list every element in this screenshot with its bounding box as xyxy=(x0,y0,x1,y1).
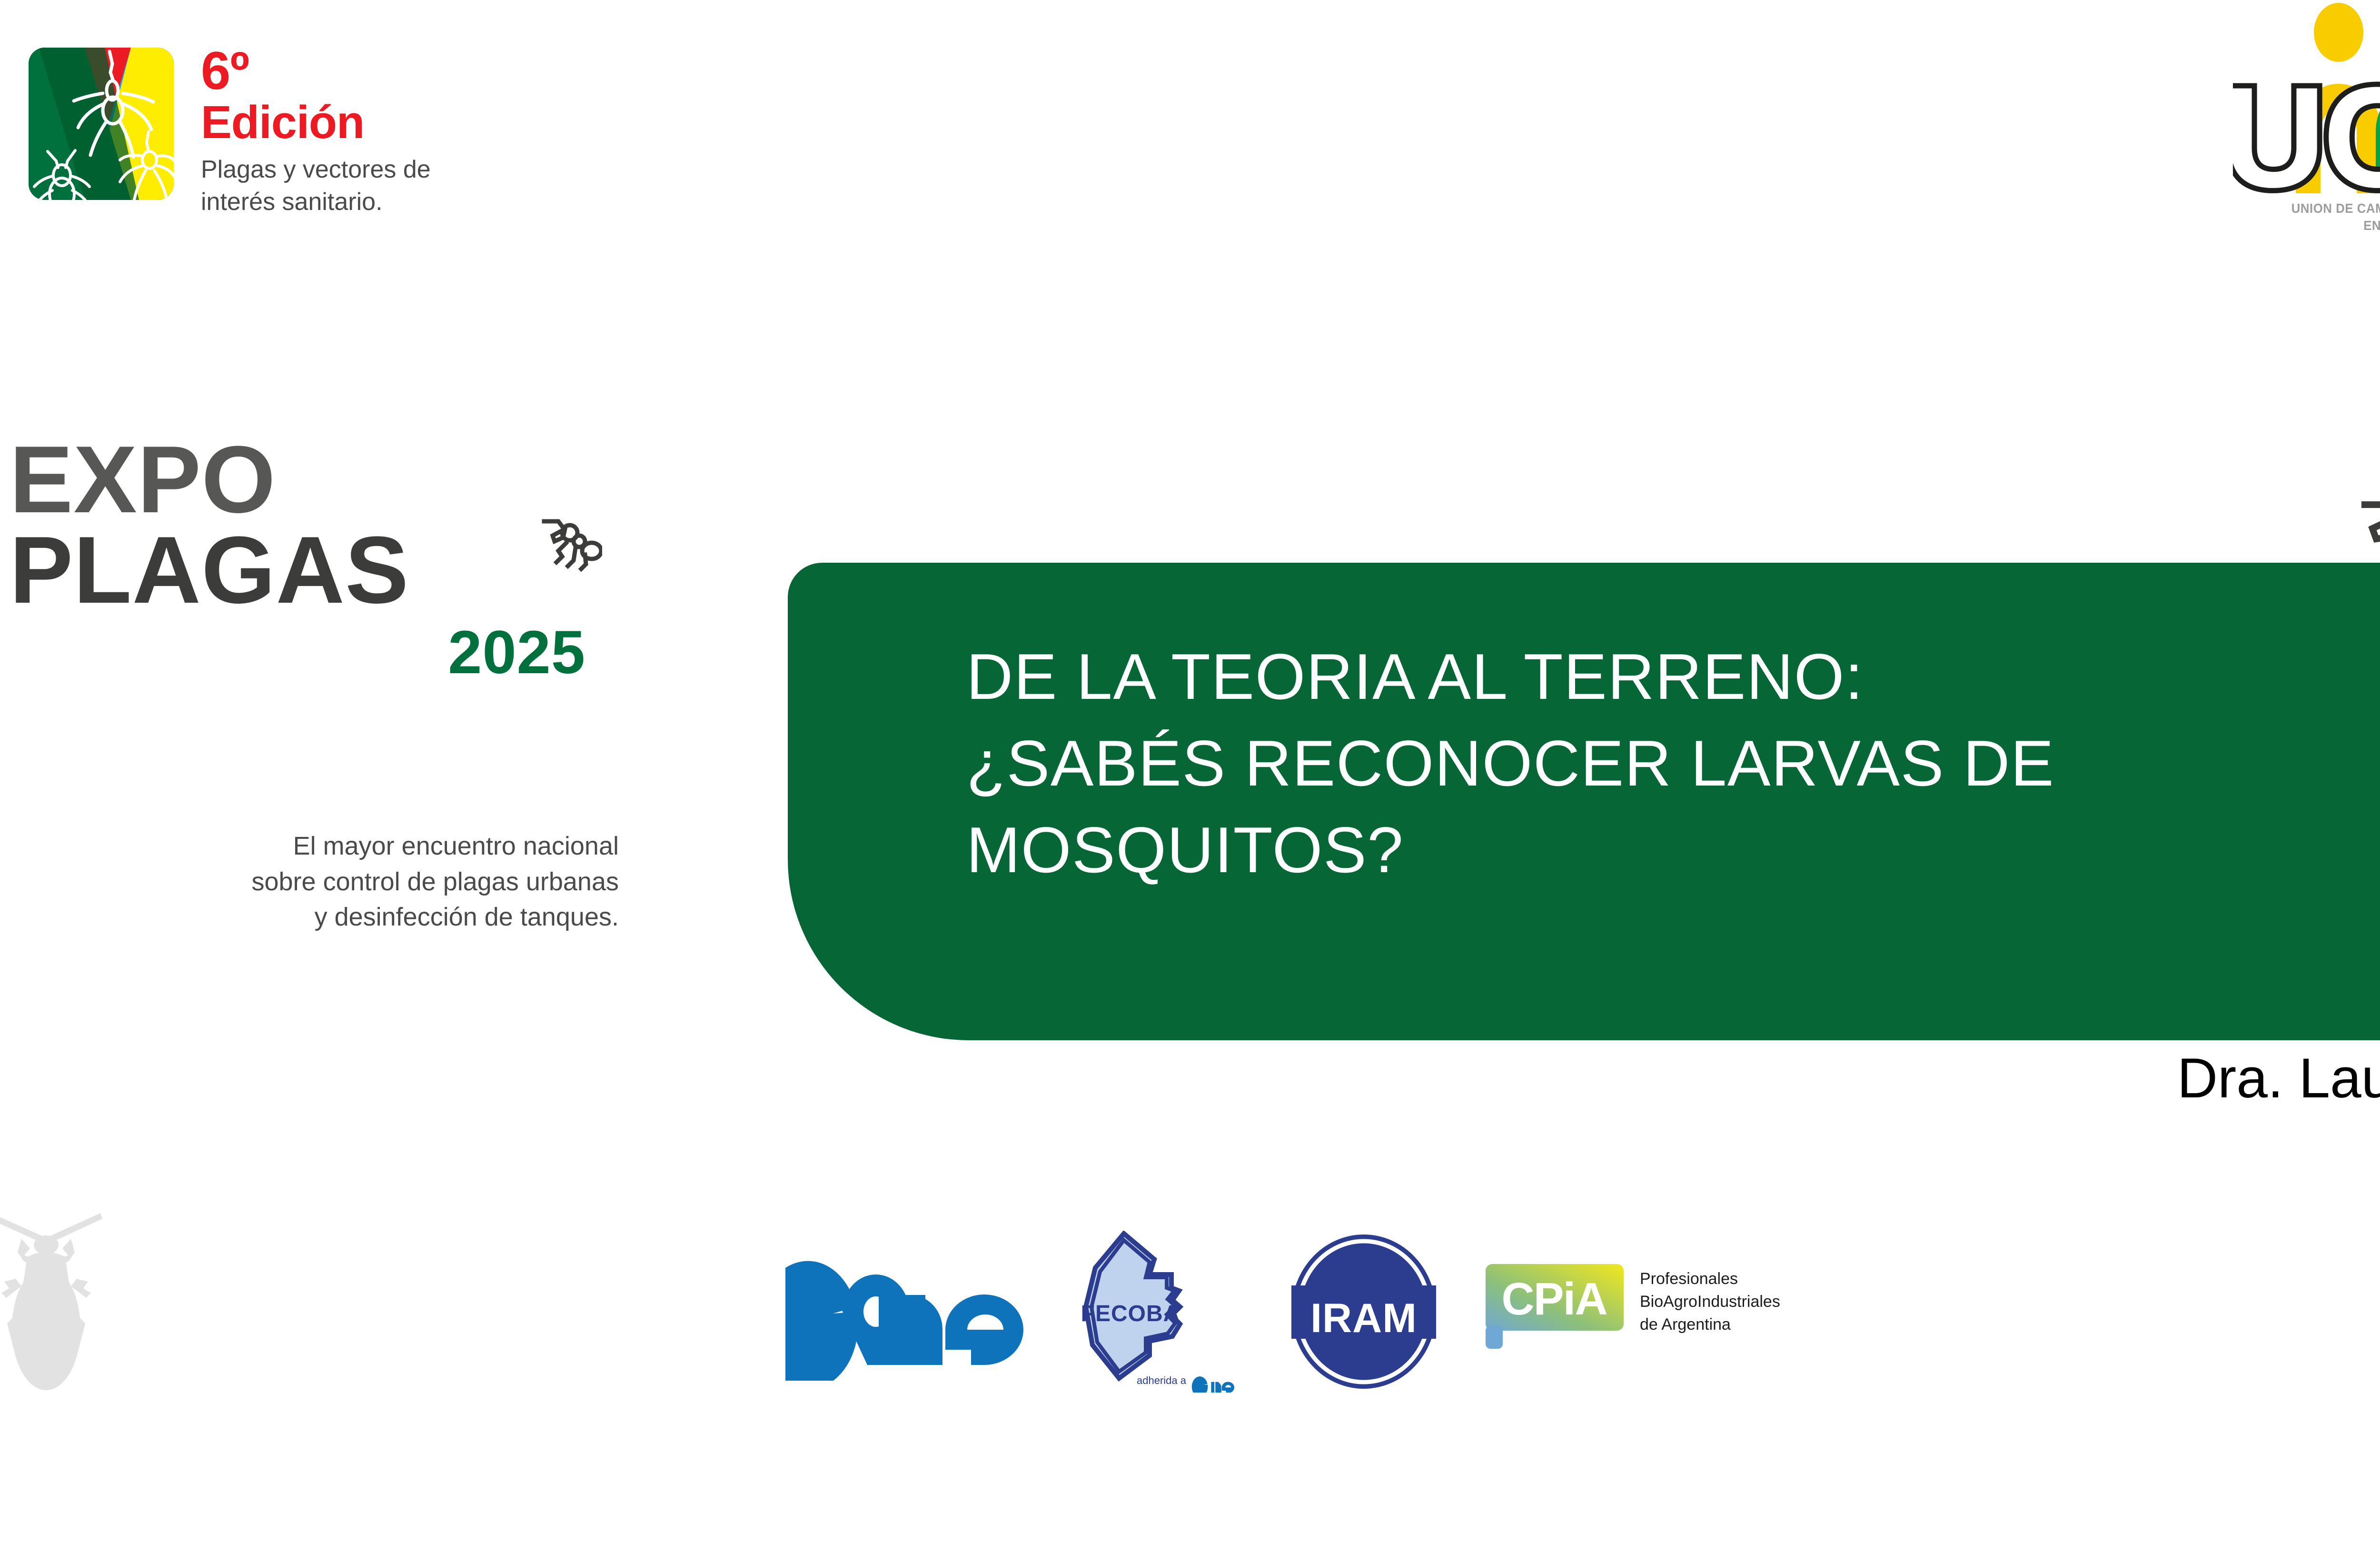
iram-logo-icon: IRAM xyxy=(1288,1233,1440,1390)
came-mini-icon xyxy=(1192,1376,1234,1393)
edition-subtitle: Plagas y vectores de interés sanitario. xyxy=(201,154,629,218)
tagline-line2: sobre control de plagas urbanas xyxy=(0,864,619,900)
sponsor-logo-cpia: CPiA Profesionales BioAgroIndustriales d… xyxy=(1483,1254,1811,1369)
cpia-desc-line3: de Argentina xyxy=(1640,1315,1731,1334)
edition-subtitle-line1: Plagas y vectores de xyxy=(201,154,629,186)
edition-header: 6º Edición Plagas y vectores de interés … xyxy=(29,48,666,205)
ucaba-logo: UCABA UCABA UNION DE CAMARAS Y ASOCIACIO… xyxy=(2233,3,2380,260)
svg-text:CPiA: CPiA xyxy=(1501,1274,1606,1324)
presentation-slide: 6º Edición Plagas y vectores de interés … xyxy=(0,0,2380,1543)
session-title-line3: MOSQUITOS? xyxy=(966,806,2380,893)
session-title-line2: ¿SABÉS RECONOCER LARVAS DE xyxy=(966,720,2380,806)
cpia-desc-line2: BioAgroIndustriales xyxy=(1640,1293,1780,1311)
speaker-name: Dra. Laura Harburguer xyxy=(1314,1045,2380,1113)
sponsor-logo-fecoba: FECOBA adherida a xyxy=(1078,1231,1245,1393)
svg-text:IRAM: IRAM xyxy=(1310,1295,1417,1341)
cockroach-artwork-icon xyxy=(0,1185,150,1452)
sponsor-logos: FECOBA adherida a IRAM xyxy=(785,1224,1880,1400)
sponsor-logo-came xyxy=(785,1243,1033,1381)
edition-text-block: 6º Edición Plagas y vectores de interés … xyxy=(201,44,629,218)
edition-word: Edición xyxy=(201,98,629,147)
ant-icon xyxy=(2323,495,2380,567)
session-title-line1: DE LA TEORIA AL TERRENO: xyxy=(966,633,2380,720)
expoplagas-badge-logo xyxy=(29,48,174,200)
ucaba-mark-icon: UCABA UCABA xyxy=(2233,3,2380,208)
came-logo-icon xyxy=(785,1243,1033,1381)
svg-text:UCABA: UCABA xyxy=(2233,57,2380,208)
plagas-word: PLAGAS xyxy=(0,524,605,617)
expo-word: EXPO xyxy=(0,436,605,524)
expo-year: 2025 xyxy=(0,619,605,687)
svg-text:FECOBA: FECOBA xyxy=(1081,1301,1180,1326)
ucaba-subtitle: UNION DE CAMARAS Y ASOCIACIONES DE BUENO… xyxy=(2252,200,2380,234)
edition-subtitle-line2: interés sanitario. xyxy=(201,186,629,219)
ucaba-subtitle-line2: EN MANEJO DE PLAGAS URBANAS xyxy=(2252,217,2380,234)
ant-artwork-icon xyxy=(535,517,602,578)
cpia-desc-line1: Profesionales xyxy=(1640,1270,1738,1288)
cpia-logo-icon: CPiA Profesionales BioAgroIndustriales d… xyxy=(1483,1254,1811,1369)
session-title-banner: DE LA TEORIA AL TERRENO: ¿SABÉS RECONOCE… xyxy=(788,563,2380,1040)
fecoba-note: adherida a xyxy=(1137,1374,1187,1386)
badge-artwork-icon xyxy=(29,48,174,200)
cockroach-watermark-icon xyxy=(0,1185,150,1452)
ant-icon xyxy=(535,517,602,578)
tagline-line1: El mayor encuentro nacional xyxy=(0,828,619,864)
brand-column: 6º Edición Plagas y vectores de interés … xyxy=(0,0,676,1543)
session-title: DE LA TEORIA AL TERRENO: ¿SABÉS RECONOCE… xyxy=(966,633,2380,894)
tagline-line3: y desinfección de tanques. xyxy=(0,899,619,935)
event-tagline: El mayor encuentro nacional sobre contro… xyxy=(0,828,638,935)
fecoba-logo-icon: FECOBA adherida a xyxy=(1078,1231,1245,1393)
sponsor-logo-iram: IRAM xyxy=(1288,1233,1440,1390)
ucaba-subtitle-line1: UNION DE CAMARAS Y ASOCIACIONES DE BUENO… xyxy=(2252,200,2380,217)
ant-artwork-icon xyxy=(2323,495,2380,567)
edition-number: 6º xyxy=(201,44,629,98)
